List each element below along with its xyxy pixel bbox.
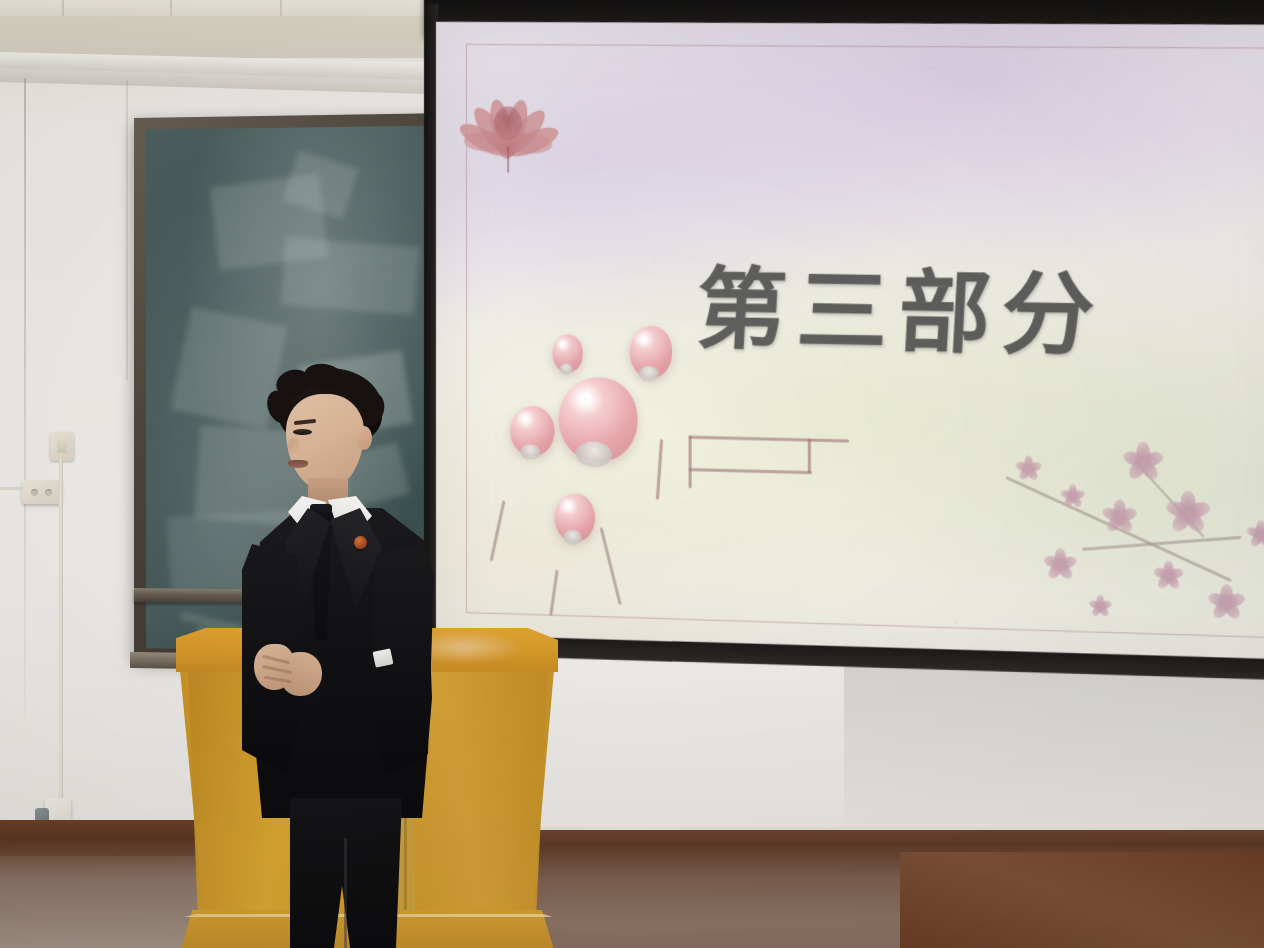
floor-right [900,852,1264,948]
lapel-pin-icon [354,536,367,549]
socket-hole-left [31,489,38,496]
blossom [1101,497,1137,533]
blossom [1015,454,1042,481]
chalk-smudge [281,237,420,316]
ceiling-tiles [0,0,430,16]
blossom [1165,488,1210,533]
ear [356,426,372,450]
projection-screen: 第三部分 [424,0,1264,698]
ink-stroke [656,439,663,500]
bubble [629,325,672,378]
wall-seam-left [24,78,26,718]
wall-seam-right [126,80,128,380]
blossom [1246,518,1264,547]
cable-conduit [59,458,63,813]
slide-surface: 第三部分 [436,22,1264,666]
ink-stroke [689,436,692,489]
classroom-presentation-photo: 第三部分 [0,0,1264,948]
mouth [288,460,308,468]
speaker [236,368,446,948]
blossom [1060,482,1085,507]
socket-wire [0,487,24,490]
bubble [559,376,638,462]
slide-title: 第三部分 [693,237,1149,374]
blossom [1153,558,1184,589]
nose [288,438,300,454]
plum-blossom-branch-icon [1000,430,1264,655]
light-switch-icon[interactable] [50,432,74,461]
trouser-seam [344,838,347,948]
blossom [1043,545,1077,579]
power-socket-icon[interactable] [22,480,62,504]
ceiling-soffit [0,0,470,58]
ink-stroke [808,438,811,473]
lotus-flower-icon [454,58,550,155]
blossom [1207,581,1245,619]
hand-right [280,652,322,696]
lotus-core [494,106,522,140]
socket-hole-right [45,489,52,496]
blossom [1088,593,1111,616]
blossom [1122,439,1164,480]
lotus-stem [507,147,509,173]
eye [293,429,312,435]
bubble [510,406,554,457]
bubble [554,493,594,542]
bubble [552,334,582,373]
